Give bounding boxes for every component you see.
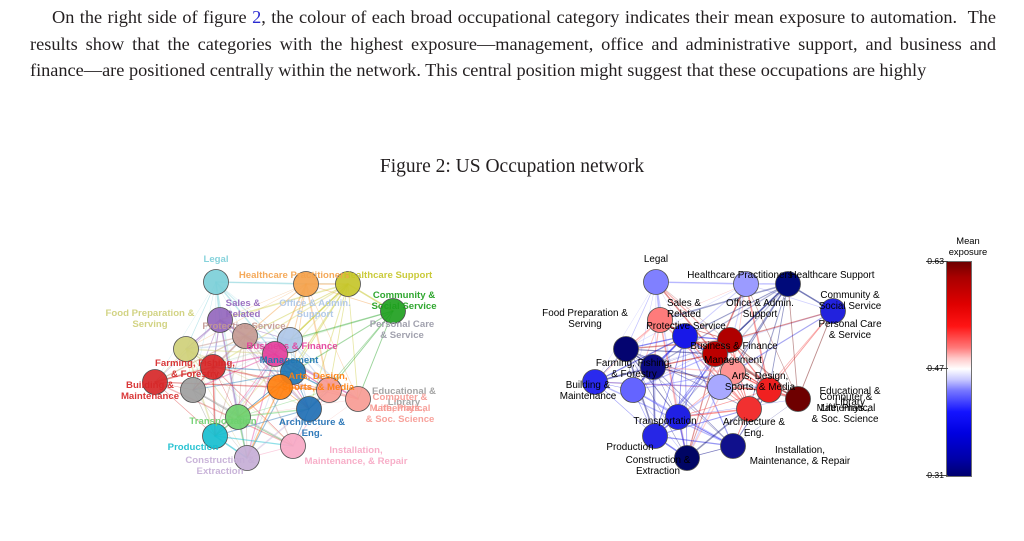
figure-caption: Figure 2: US Occupation network — [0, 156, 1024, 178]
network-node-building-maintenance[interactable] — [143, 370, 168, 395]
network-node-legal[interactable] — [644, 270, 669, 295]
network-node-computer-mathematical[interactable] — [786, 387, 811, 412]
network-node-life-phys-soc-science[interactable] — [757, 378, 782, 403]
network-node-construction-extraction[interactable] — [235, 446, 260, 471]
network-node-production[interactable] — [203, 424, 228, 449]
network-node-healthcare-practitioners[interactable] — [294, 272, 319, 297]
node-layer — [143, 270, 406, 471]
network-node-legal[interactable] — [204, 270, 229, 295]
edge-layer — [155, 282, 393, 458]
colorbar-tick-label: 0.31 — [927, 470, 944, 480]
network-node-educational-library[interactable] — [181, 378, 206, 403]
network-node-protective-service[interactable] — [233, 324, 258, 349]
network-node-protective-service[interactable] — [673, 324, 698, 349]
network-node-architecture-eng[interactable] — [737, 397, 762, 422]
network-panel-right-exposure: LegalHealthcare PractitionersHealthcare … — [520, 214, 920, 541]
network-node-business-finance[interactable] — [703, 342, 728, 367]
network-node-life-phys-soc-science[interactable] — [317, 378, 342, 403]
colorbar-gradient — [946, 261, 972, 477]
network-edge — [329, 311, 393, 390]
network-node-farming-fishing-forestry[interactable] — [641, 355, 666, 380]
network-node-educational-library[interactable] — [621, 378, 646, 403]
network-node-arts-design-sports-media[interactable] — [268, 375, 293, 400]
network-node-computer-mathematical[interactable] — [346, 387, 371, 412]
network-node-construction-extraction[interactable] — [675, 446, 700, 471]
figure-reference-link[interactable]: 2 — [252, 7, 261, 27]
network-node-architecture-eng[interactable] — [297, 397, 322, 422]
colorbar-title: Mean exposure — [920, 236, 1016, 257]
body-paragraph: On the right side of figure 2, the colou… — [30, 4, 996, 84]
network-node-installation-maintenance-repair[interactable] — [281, 434, 306, 459]
network-node-healthcare-support[interactable] — [336, 272, 361, 297]
paragraph-part-a: On the right side of figure — [52, 7, 252, 27]
network-node-sales-related[interactable] — [208, 308, 233, 333]
colorbar-tick-label: 0.63 — [927, 256, 944, 266]
network-edge — [348, 284, 358, 399]
network-node-transportation[interactable] — [226, 405, 251, 430]
network-node-farming-fishing-forestry[interactable] — [201, 355, 226, 380]
network-node-healthcare-support[interactable] — [776, 272, 801, 297]
edge-layer — [595, 282, 833, 458]
node-layer — [583, 270, 846, 471]
network-node-community-social-service[interactable] — [381, 299, 406, 324]
network-node-arts-design-sports-media[interactable] — [708, 375, 733, 400]
network-node-sales-related[interactable] — [648, 308, 673, 333]
network-node-food-preparation-serving[interactable] — [614, 337, 639, 362]
network-node-healthcare-practitioners[interactable] — [734, 272, 759, 297]
colorbar-title-line-1: Mean — [920, 236, 1016, 247]
network-node-building-maintenance[interactable] — [583, 370, 608, 395]
network-edge — [358, 311, 393, 399]
network-node-transportation[interactable] — [666, 405, 691, 430]
network-node-installation-maintenance-repair[interactable] — [721, 434, 746, 459]
network-graph-left — [80, 214, 480, 541]
network-graph-right — [520, 214, 920, 541]
network-node-community-social-service[interactable] — [821, 299, 846, 324]
network-node-business-finance[interactable] — [263, 342, 288, 367]
network-node-food-preparation-serving[interactable] — [174, 337, 199, 362]
colorbar-mean-exposure: Mean exposure 0.630.470.31 — [920, 214, 1024, 541]
network-panel-left-categorical: LegalHealthcare PractitionersHealthcare … — [80, 214, 480, 541]
network-edge — [769, 311, 833, 390]
colorbar-tick-label: 0.47 — [927, 363, 944, 373]
figure-2-us-occupation-network: LegalHealthcare PractitionersHealthcare … — [0, 214, 1024, 541]
network-edge — [788, 284, 798, 399]
network-node-production[interactable] — [643, 424, 668, 449]
network-edge — [798, 311, 833, 399]
